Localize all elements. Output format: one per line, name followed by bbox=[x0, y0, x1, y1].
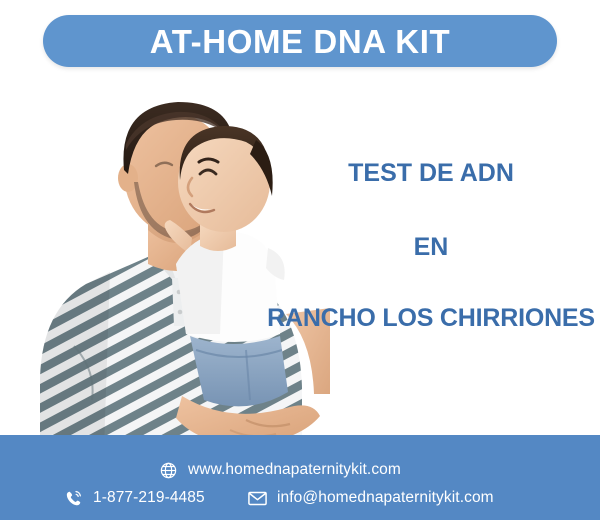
banner-title: AT-HOME DNA KIT bbox=[150, 25, 450, 58]
headline-line-2: EN bbox=[262, 234, 600, 260]
phone-label: 1-877-219-4485 bbox=[93, 489, 205, 507]
phone-row[interactable]: 1-877-219-4485 bbox=[62, 487, 205, 509]
website-row[interactable]: www.homednapaternitykit.com bbox=[157, 459, 401, 481]
website-label: www.homednapaternitykit.com bbox=[188, 461, 401, 479]
headline-line-3: RANCHO LOS CHIRRIONES bbox=[262, 305, 600, 331]
promo-card: AT-HOME DNA KIT bbox=[0, 0, 600, 520]
footer-notch bbox=[0, 435, 272, 447]
title-banner: AT-HOME DNA KIT bbox=[43, 15, 557, 67]
email-row[interactable]: info@homednapaternitykit.com bbox=[246, 487, 494, 509]
envelope-icon bbox=[246, 487, 268, 509]
phone-icon bbox=[62, 487, 84, 509]
headline-line-1: TEST DE ADN bbox=[262, 160, 600, 186]
email-label: info@homednapaternitykit.com bbox=[277, 489, 494, 507]
globe-icon bbox=[157, 459, 179, 481]
headline-block: TEST DE ADN EN RANCHO LOS CHIRRIONES bbox=[262, 160, 600, 331]
